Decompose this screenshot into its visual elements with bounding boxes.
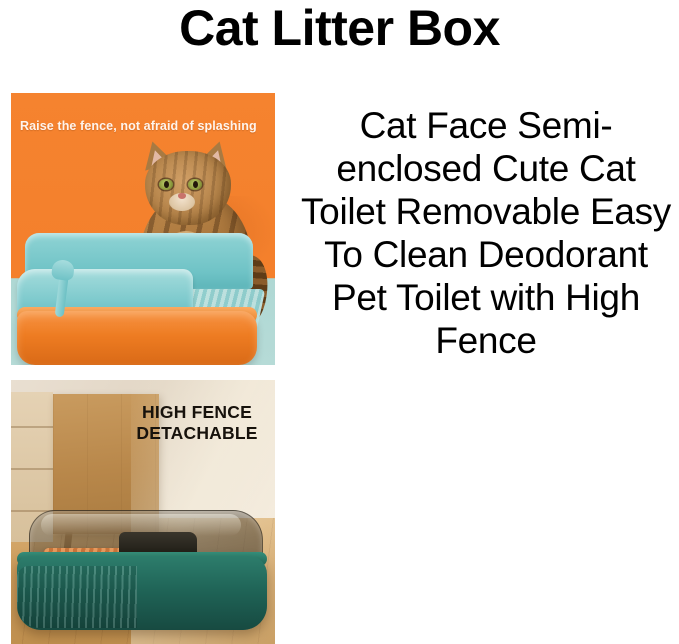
cat-eye-right [188, 179, 202, 190]
photo-caption-raise-the-fence: Raise the fence, not afraid of splashing [20, 119, 257, 133]
litter-box-ribbed-texture [17, 566, 137, 628]
cat-nose [178, 193, 186, 199]
cat-head-stripes [145, 151, 231, 225]
photo-caption-high-fence-detachable: HIGH FENCE DETACHABLE [123, 402, 271, 443]
product-photo-green-litter-box[interactable]: HIGH FENCE DETACHABLE [11, 380, 275, 644]
cabinet-drawer-line [11, 468, 53, 470]
cat-pupil-right [193, 181, 198, 188]
cat-pupil-left [164, 181, 169, 188]
cat-eye-left [159, 179, 173, 190]
product-image-gallery: Raise the fence, not afraid of splashing… [11, 93, 275, 644]
litter-box-body-orange [17, 311, 257, 365]
product-photo-orange-litter-box[interactable]: Raise the fence, not afraid of splashing [11, 93, 275, 365]
product-description: Cat Face Semi-enclosed Cute Cat Toilet R… [300, 105, 672, 362]
cabinet-drawer-line [11, 426, 53, 428]
page-title: Cat Litter Box [0, 2, 679, 55]
